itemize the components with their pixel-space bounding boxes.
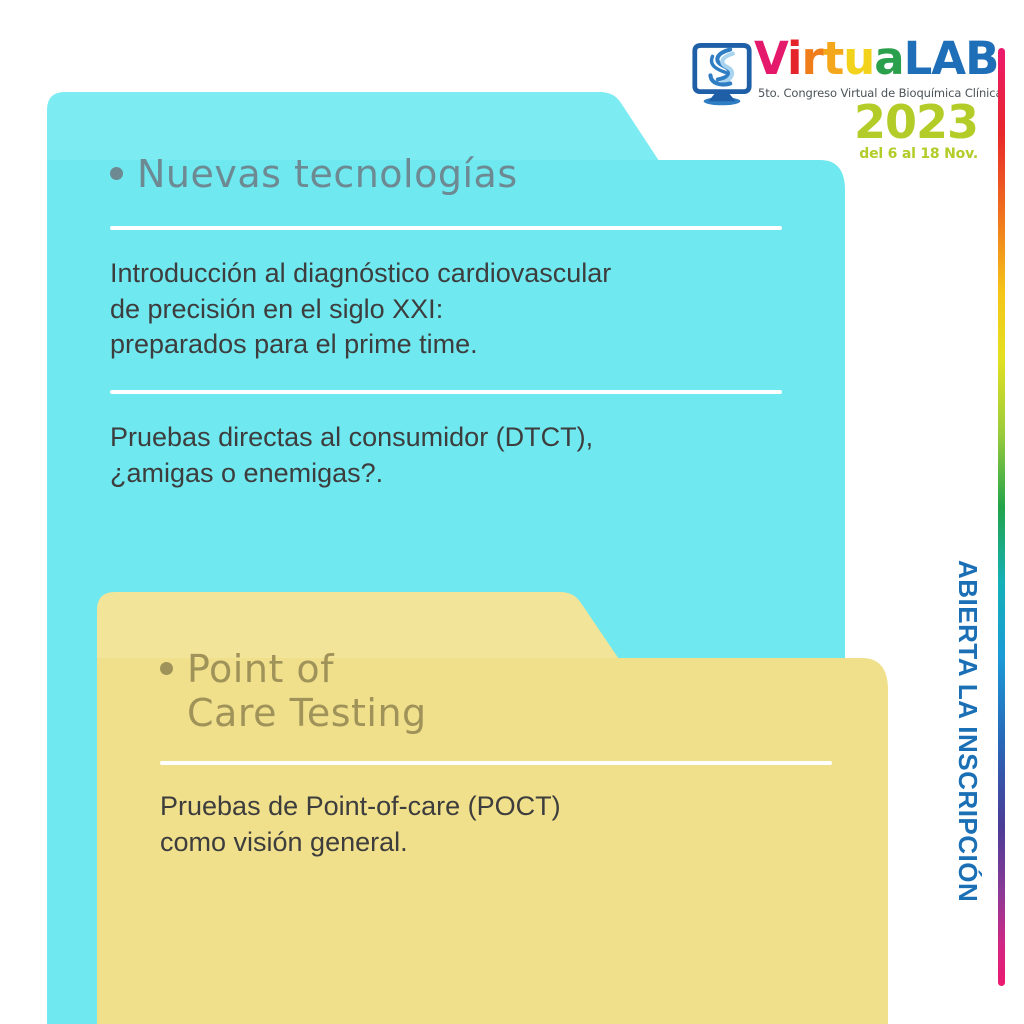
folder-content-nuevas-tecnologias: Nuevas tecnologías Introducción al diagn… (110, 108, 750, 491)
wordmark-r: r (801, 32, 822, 85)
registration-cta-text: ABIERTA LA INSCRIPCIÓN (955, 560, 981, 902)
bullet-dot-icon (110, 167, 123, 180)
wordmark-lab: LAB (904, 32, 999, 85)
folder-title-nuevas-tecnologias: Nuevas tecnologías (110, 108, 750, 196)
folder-entry-text: Introducción al diagnóstico cardiovascul… (110, 256, 750, 362)
folder-title-text: Point of (187, 647, 334, 691)
wordmark-u: u (843, 32, 874, 85)
divider-blue-2 (110, 390, 782, 394)
logo-dates: del 6 al 18 Nov. (859, 146, 978, 162)
poster-canvas: Nuevas tecnologías Introducción al diagn… (0, 0, 1024, 1024)
folder-title-text: Nuevas tecnologías (137, 152, 518, 196)
folder-entry-text: Pruebas de Point-of-care (POCT) como vis… (160, 789, 850, 860)
logo-year: 2023 (854, 99, 978, 145)
folder-entry-text: Pruebas directas al consumidor (DTCT), ¿… (110, 420, 750, 491)
registration-cta: ABIERTA LA INSCRIPCIÓN (940, 560, 996, 1000)
wordmark-v: V (754, 32, 787, 85)
folder-title-text-line2: Care Testing (160, 691, 427, 735)
folder-title-point-of-care-testing: Point ofCare Testing (160, 603, 850, 735)
monitor-dna-icon (688, 40, 756, 108)
folder-content-point-of-care-testing: Point ofCare Testing Pruebas de Point-of… (160, 603, 850, 860)
divider-blue-1 (110, 226, 782, 230)
wordmark-a: a (874, 32, 903, 85)
wordmark-t: t (823, 32, 844, 85)
logo-wordmark: VirtuaLAB (754, 36, 998, 81)
wordmark-i: i (787, 32, 801, 85)
brand-logo: VirtuaLAB 5to. Congreso Virtual de Bioqu… (688, 36, 978, 166)
bullet-dot-icon (160, 662, 173, 675)
divider-yellow-1 (160, 761, 832, 765)
rainbow-gradient-rule (998, 48, 1005, 986)
